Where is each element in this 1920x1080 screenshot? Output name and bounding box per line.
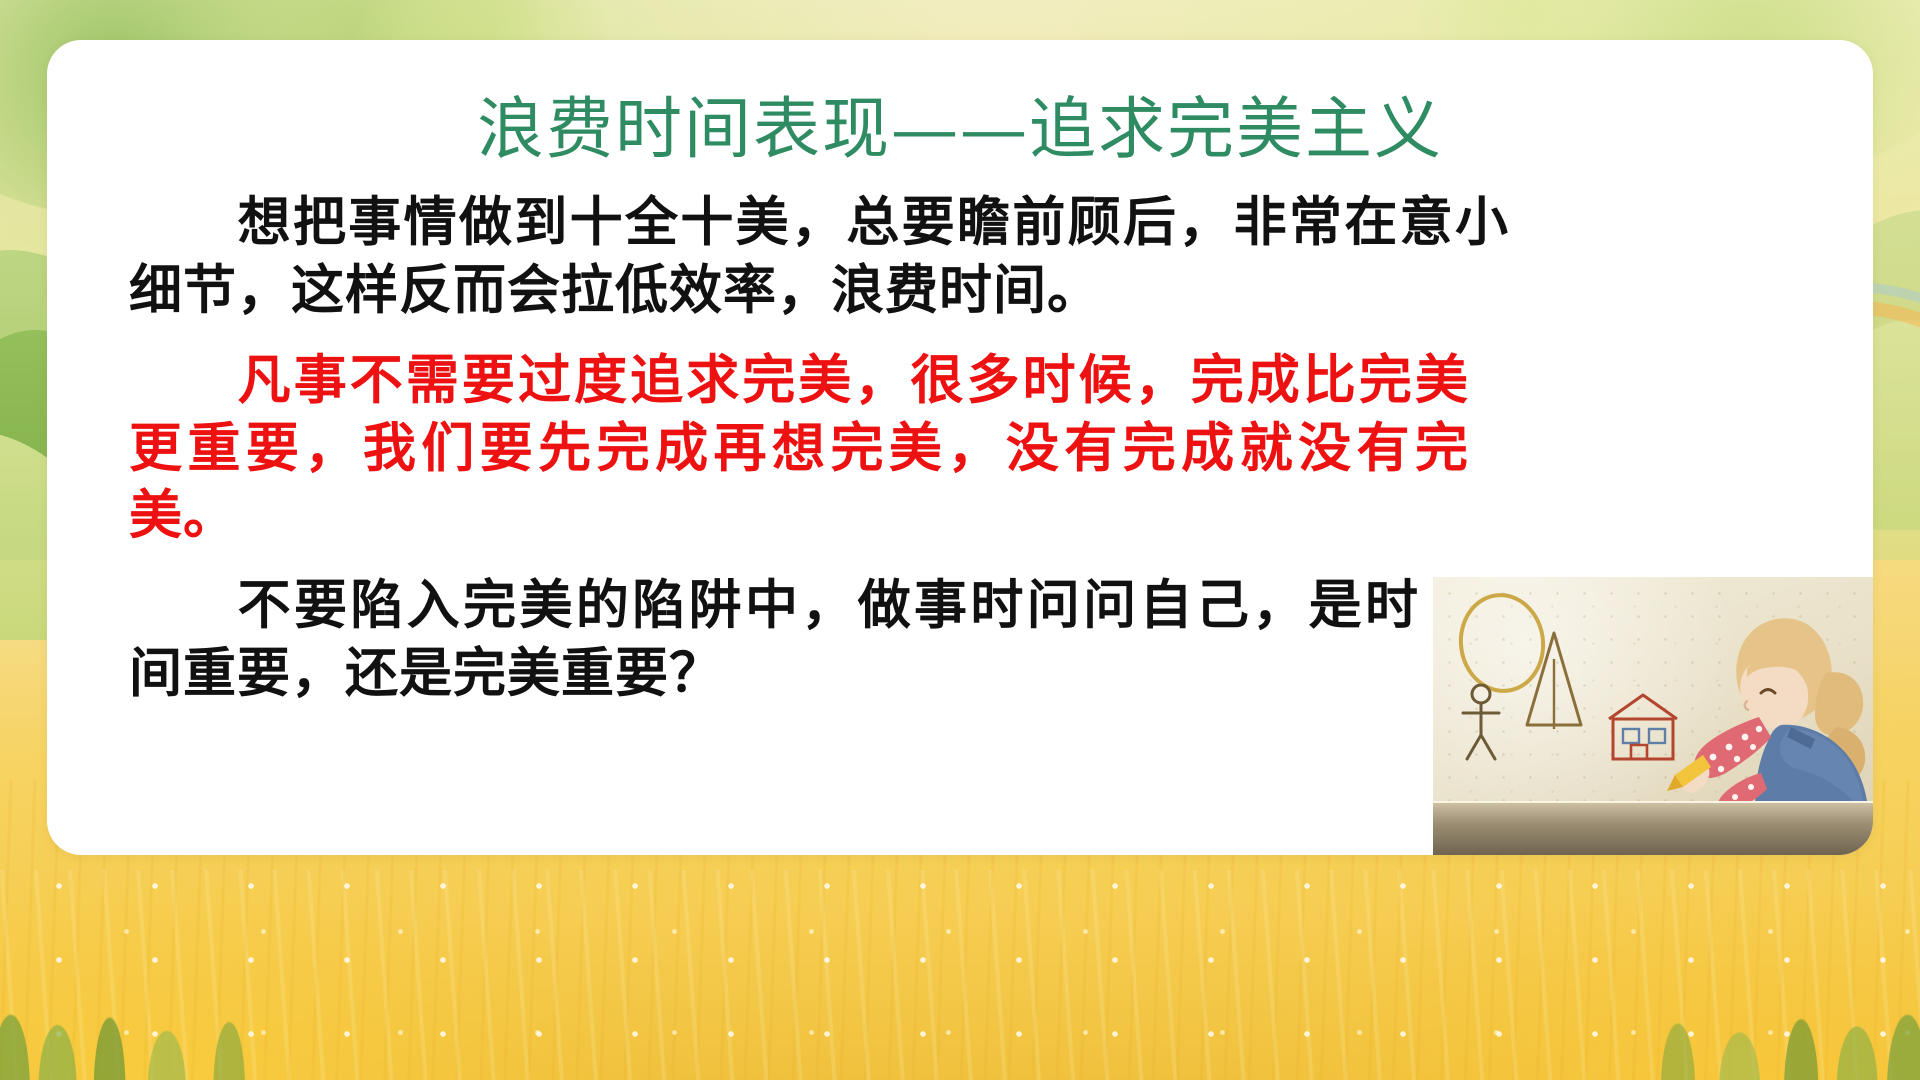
grass-blades-left: [0, 968, 510, 1080]
paragraph-2-highlight: 凡事不需要过度追求完美，很多时候，完成比完美更重要，我们要先完成再想完美，没有完…: [129, 347, 1469, 550]
paragraph-1: 想把事情做到十全十美，总要瞻前顾后，非常在意小细节，这样反而会拉低效率，浪费时间…: [129, 189, 1509, 325]
slide-title: 浪费时间表现——追求完美主义: [47, 40, 1873, 167]
photo-content: [1433, 577, 1873, 855]
content-card: 浪费时间表现——追求完美主义 想把事情做到十全十美，总要瞻前顾后，非常在意小细节…: [47, 40, 1873, 855]
floor-strip: [1433, 803, 1873, 855]
tree-drawing-icon: [1521, 629, 1587, 733]
stick-figure-drawing-icon: [1459, 683, 1503, 763]
slide-canvas: 浪费时间表现——追求完美主义 想把事情做到十全十美，总要瞻前顾后，非常在意小细节…: [0, 0, 1920, 1080]
paragraph-3: 不要陷入完美的陷阱中，做事时问问自己，是时间重要，还是完美重要？: [129, 572, 1419, 708]
illustration-photo: [1433, 577, 1873, 855]
grass-blades-right: [1370, 968, 1920, 1080]
